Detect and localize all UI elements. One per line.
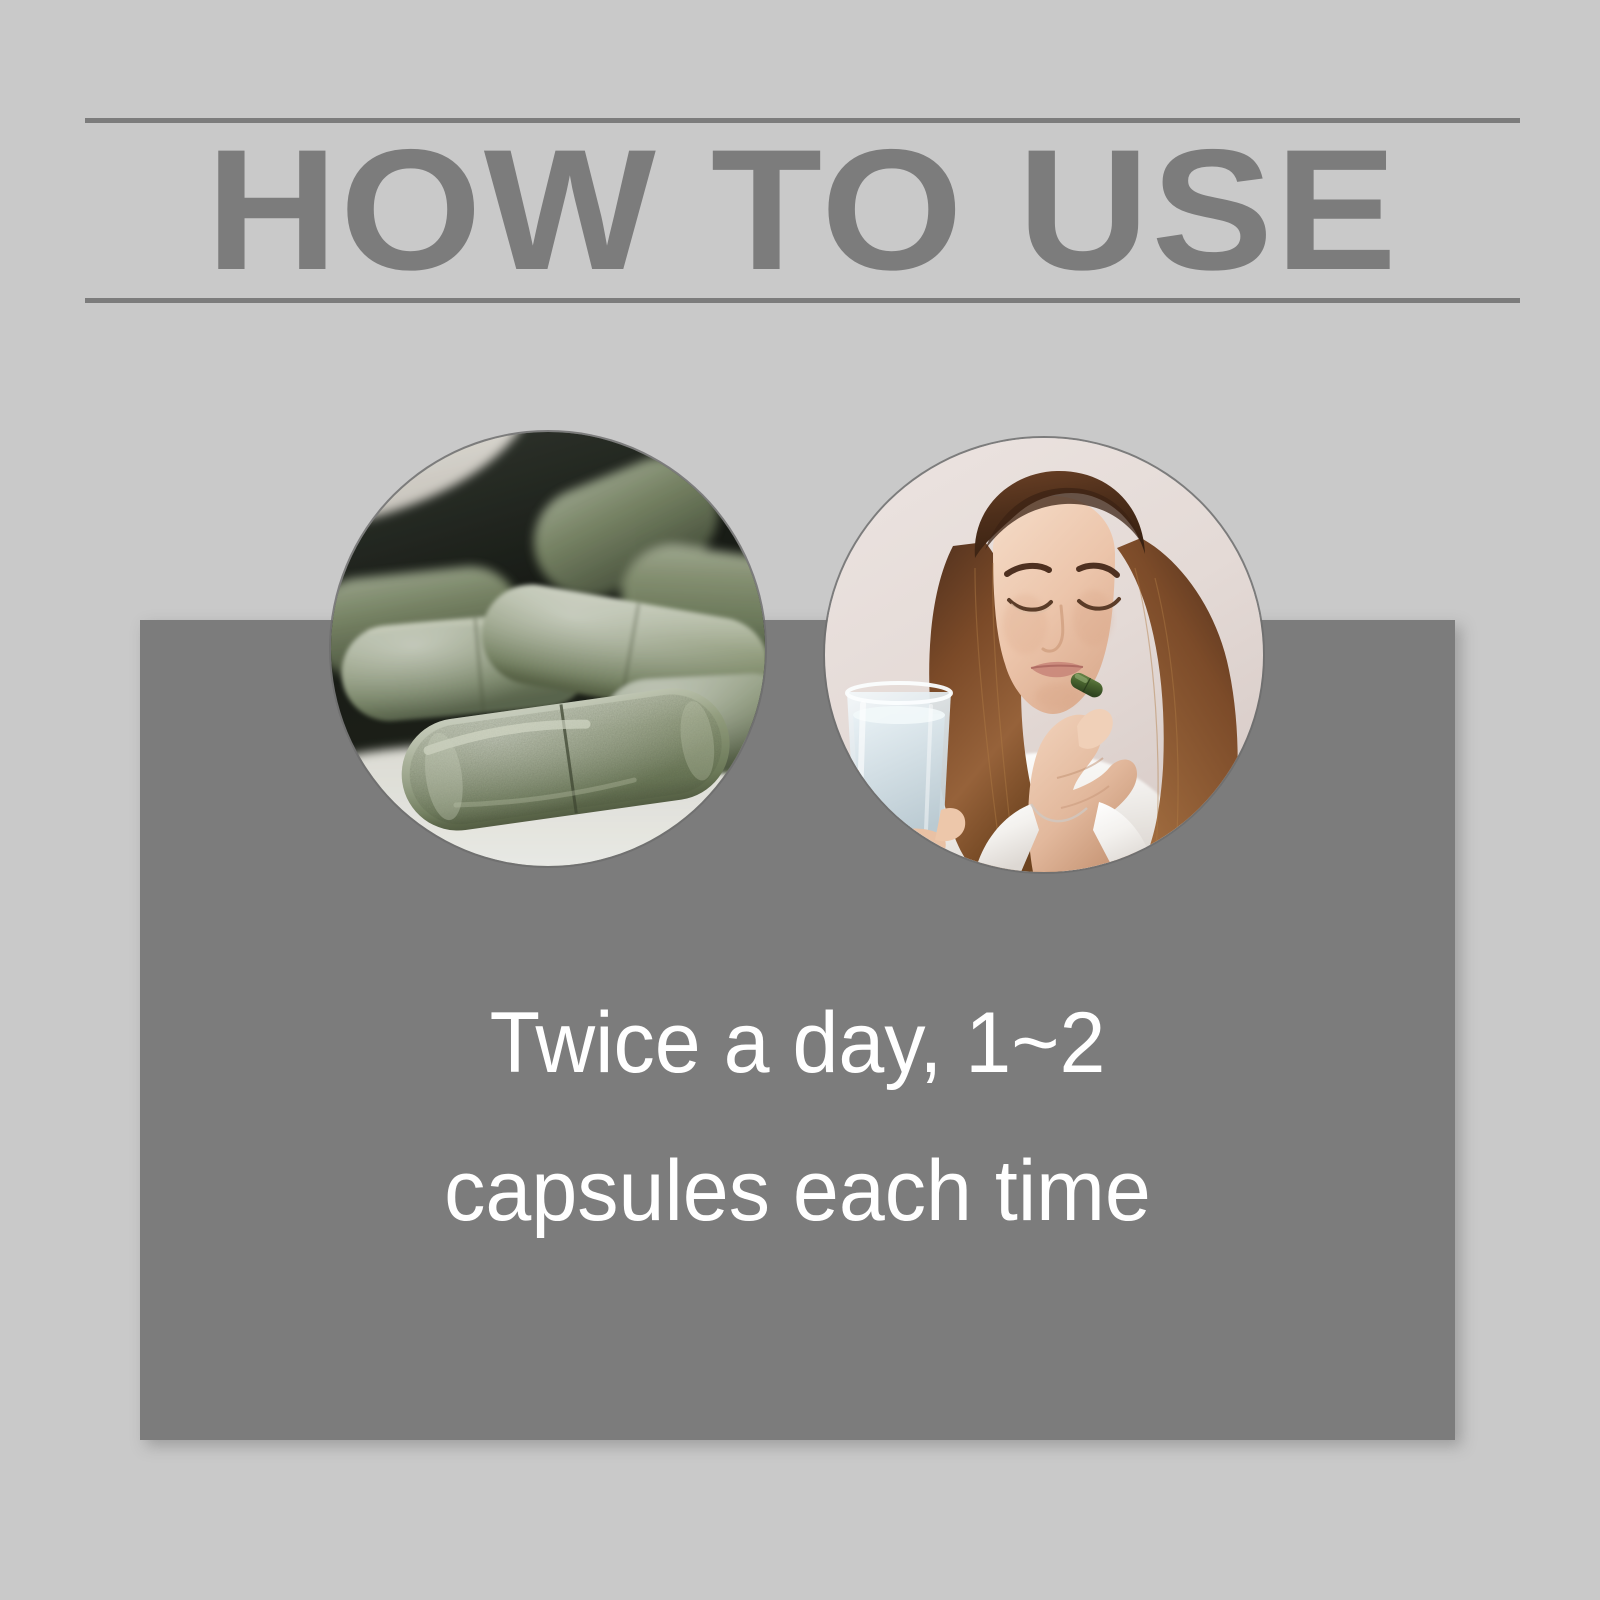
usage-instruction-line-2: capsules each time bbox=[166, 1118, 1428, 1266]
usage-instruction-line-1: Twice a day, 1~2 bbox=[166, 970, 1428, 1118]
instruction-panel: Twice a day, 1~2 capsules each time bbox=[140, 620, 1455, 1440]
green-capsules-photo bbox=[331, 432, 765, 866]
page-title: HOW TO USE bbox=[42, 122, 1563, 298]
woman-taking-capsule-photo bbox=[825, 438, 1263, 872]
poster-canvas: HOW TO USE Twice a day, 1~2 capsules eac… bbox=[0, 0, 1600, 1600]
title-rule-bottom bbox=[85, 298, 1520, 303]
usage-instruction-text: Twice a day, 1~2 capsules each time bbox=[140, 970, 1455, 1266]
header-block: HOW TO USE bbox=[85, 118, 1520, 303]
